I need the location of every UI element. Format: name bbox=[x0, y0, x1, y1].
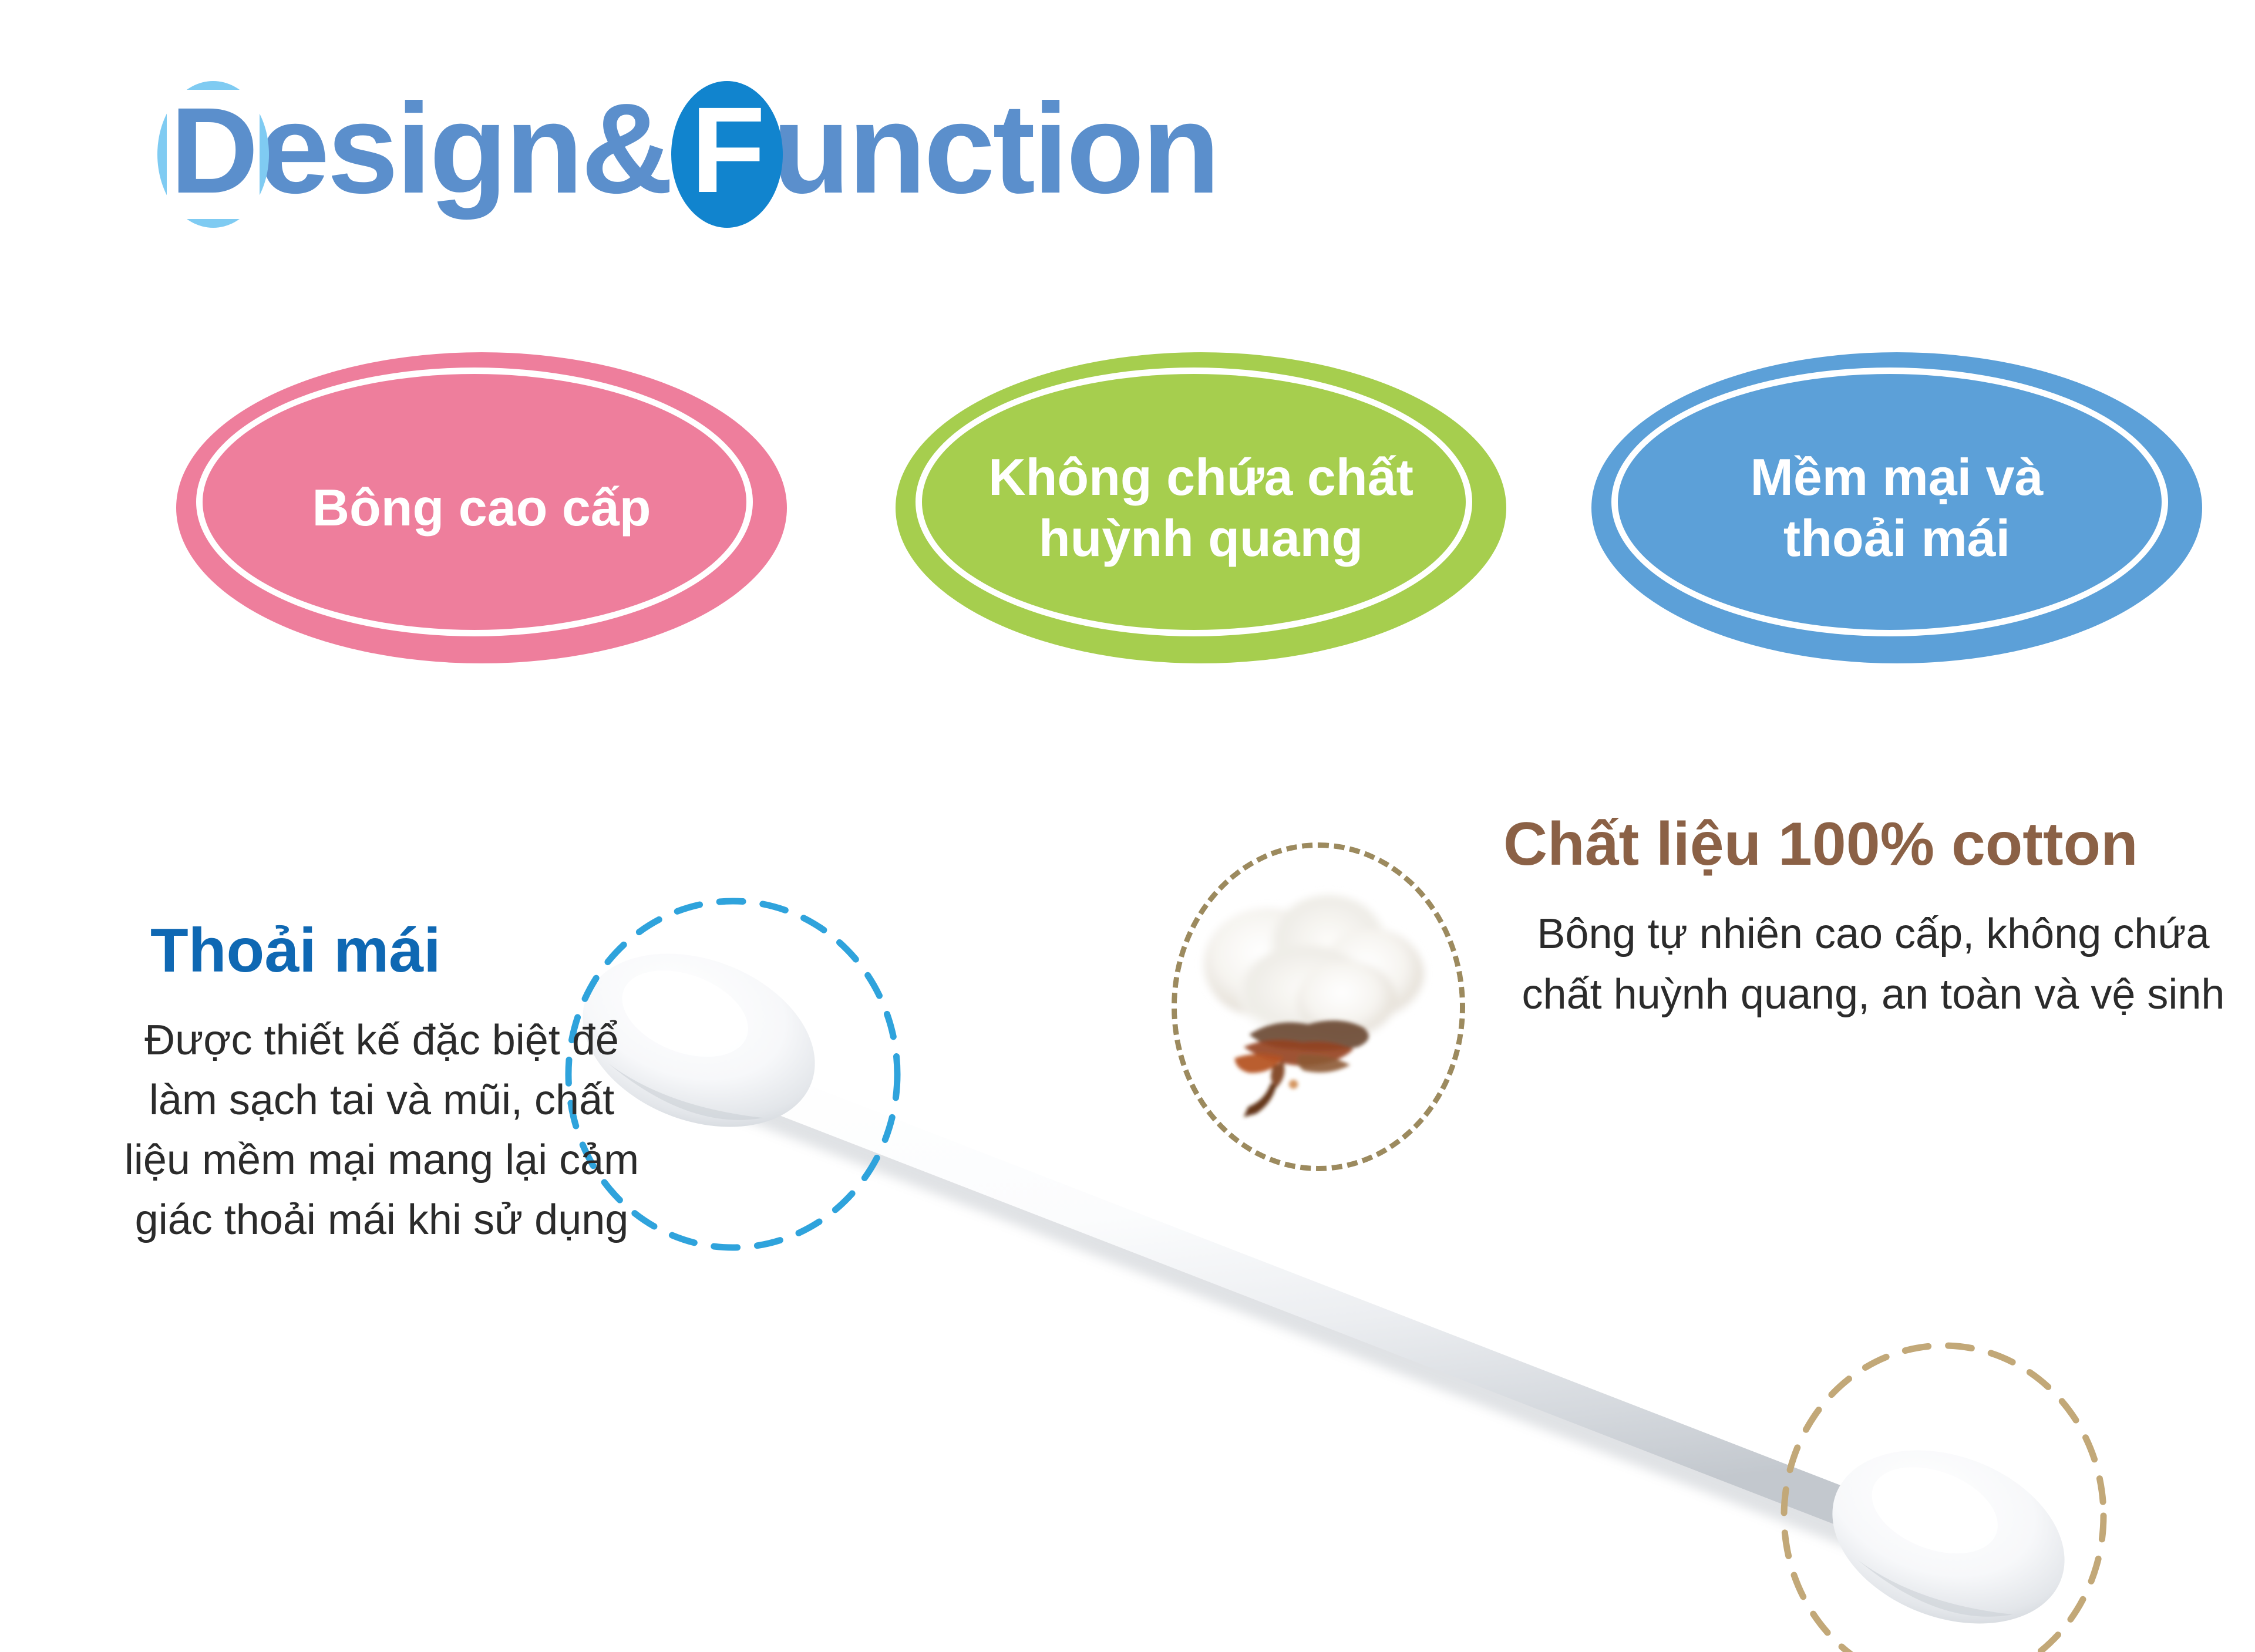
pill-label: Không chứa chất huỳnh quang bbox=[962, 447, 1439, 569]
cotton-material-callout bbox=[1172, 842, 1465, 1171]
block-heading-material: Chất liệu 100% cotton bbox=[1503, 810, 2255, 878]
block-heading-comfort: Thoải mái bbox=[150, 916, 664, 986]
logo-ampersand: & bbox=[581, 85, 671, 224]
feature-block-comfort: Thoải mái Được thiết kế đặc biệt để làm … bbox=[100, 916, 664, 1250]
block-body-comfort: Được thiết kế đặc biệt để làm sạch tai v… bbox=[100, 1010, 664, 1250]
pill-label: Bông cao cấp bbox=[243, 477, 719, 538]
feature-pill-no-fluorescent[interactable]: Không chứa chất huỳnh quang bbox=[896, 352, 1506, 663]
feature-block-material: Chất liệu 100% cotton Bông tự nhiên cao … bbox=[1492, 810, 2255, 1024]
feature-pill-soft-comfortable[interactable]: Mềm mại và thoải mái bbox=[1591, 352, 2202, 663]
logo-badge-d: D bbox=[157, 81, 269, 228]
slide-canvas: D esign& F unction Bông cao cấp Không ch… bbox=[0, 0, 2255, 1652]
logo-wordmark: D esign& F unction bbox=[157, 81, 1218, 228]
logo-letter-f: F bbox=[691, 89, 763, 220]
cotton-boll-photo bbox=[1177, 848, 1460, 1165]
logo-badge-f: F bbox=[671, 81, 783, 228]
swab-tip-right bbox=[1808, 1419, 2090, 1652]
logo-letter-d: D bbox=[167, 90, 260, 219]
pill-label: Mềm mại và thoải mái bbox=[1658, 447, 2135, 569]
logo-word-function: unction bbox=[772, 85, 1218, 224]
page-title: D esign& F unction bbox=[157, 75, 1218, 234]
feature-pill-premium-cotton[interactable]: Bông cao cấp bbox=[176, 352, 787, 663]
logo-word-design: esign bbox=[258, 85, 581, 224]
block-body-material: Bông tự nhiên cao cấp, không chứa chất h… bbox=[1492, 904, 2255, 1024]
